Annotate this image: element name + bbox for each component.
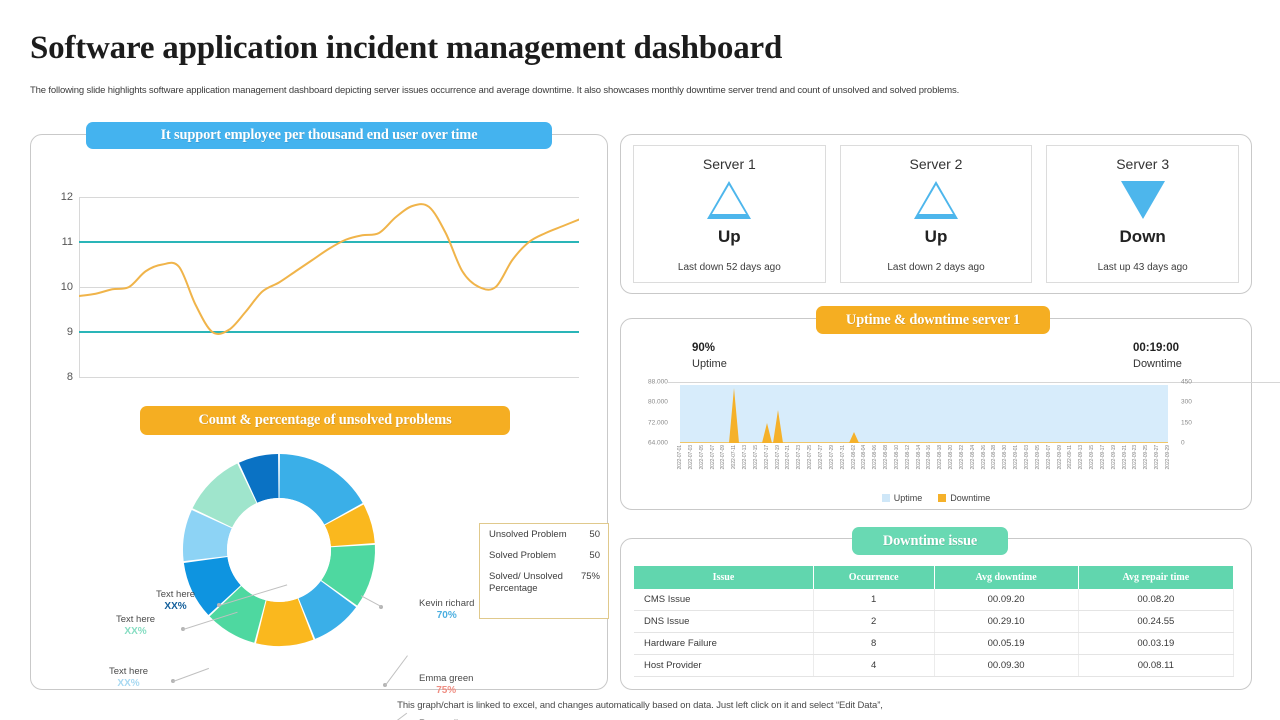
uptime-x-tick: 2022-07-03	[688, 445, 694, 470]
uptime-x-tick: 2022-09-03	[1024, 445, 1030, 470]
uptime-left-tick: 88.000	[648, 379, 668, 386]
uptime-x-tick: 2022-08-06	[872, 445, 878, 470]
server-state: Up	[925, 227, 948, 247]
uptime-x-tick: 2022-09-13	[1078, 445, 1084, 470]
table-column-header: Avg downtime	[934, 566, 1078, 589]
uptime-legend: Uptime Downtime	[621, 493, 1251, 503]
table-cell: 00.05.19	[934, 633, 1078, 655]
donut-slice-percent: XX%	[109, 678, 148, 691]
donut-slice-name: Kevin richard	[419, 598, 474, 609]
downtime-issue-table: IssueOccurrenceAvg downtimeAvg repair ti…	[634, 566, 1234, 677]
line-chart-series	[79, 197, 579, 377]
table-cell: 00.09.30	[934, 655, 1078, 677]
support-chart-banner: It support employee per thousand end use…	[86, 122, 552, 149]
donut-leader-line	[385, 656, 408, 686]
donut-slice-percent: XX%	[116, 626, 155, 639]
donut-slice-label: Kevin richard70%	[419, 598, 474, 622]
table-column-header: Issue	[634, 566, 813, 589]
uptime-chart-banner: Uptime & downtime server 1	[816, 306, 1050, 334]
uptime-x-tick: 2022-09-23	[1132, 445, 1138, 470]
page-title: Software application incident management…	[30, 30, 782, 67]
line-chart-y-tick: 11	[62, 236, 73, 248]
uptime-left-tick: 72.000	[648, 419, 668, 426]
line-chart-y-tick: 12	[61, 191, 73, 203]
uptime-x-tick: 2022-09-29	[1165, 445, 1171, 470]
table-cell: 2	[813, 611, 934, 633]
solved-unsolved-stats-box: Unsolved Problem 50 Solved Problem 50 So…	[479, 523, 609, 619]
uptime-x-tick: 2022-07-23	[796, 445, 802, 470]
uptime-x-tick: 2022-09-19	[1111, 445, 1117, 470]
downtime-table-banner: Downtime issue	[852, 527, 1008, 555]
uptime-x-tick: 2022-07-21	[785, 445, 791, 470]
uptime-x-tick: 2022-07-13	[742, 445, 748, 470]
donut-slice-name: Text here	[109, 666, 148, 677]
donut-slice-percent: 70%	[419, 610, 474, 623]
uptime-x-tick: 2022-08-22	[959, 445, 965, 470]
table-row: DNS Issue200.29.1000.24.55	[634, 611, 1234, 633]
uptime-x-tick: 2022-08-20	[948, 445, 954, 470]
table-cell: 8	[813, 633, 934, 655]
page-subtitle: The following slide highlights software …	[30, 85, 1252, 96]
uptime-x-tick: 2022-07-07	[710, 445, 716, 470]
legend-item-downtime: Downtime	[938, 493, 990, 503]
uptime-plot-area	[680, 385, 1168, 443]
downtime-stat-label: Downtime	[1133, 358, 1182, 370]
donut-leader-line	[173, 668, 209, 682]
dashboard-slide: Software application incident management…	[0, 0, 1280, 720]
donut-slice-label: Text hereXX%	[109, 666, 148, 690]
uptime-x-tick: 2022-07-19	[775, 445, 781, 470]
legend-item-uptime: Uptime	[882, 493, 923, 503]
triangle-down-icon	[1121, 181, 1165, 219]
stat-label: Solved/ Unsolved Percentage	[489, 571, 575, 595]
uptime-swatch-icon	[882, 494, 890, 502]
table-header-row: IssueOccurrenceAvg downtimeAvg repair ti…	[634, 566, 1234, 589]
triangle-up-icon	[914, 181, 958, 219]
downtime-baseline	[680, 442, 1168, 444]
table-cell-issue: DNS Issue	[634, 611, 813, 633]
uptime-x-tick: 2022-09-09	[1057, 445, 1063, 470]
line-chart-y-tick: 9	[67, 326, 73, 338]
uptime-x-tick: 2022-08-30	[1002, 445, 1008, 470]
legend-label: Downtime	[950, 493, 990, 503]
uptime-x-tick: 2022-08-10	[894, 445, 900, 470]
stat-row: Unsolved Problem 50	[480, 524, 608, 545]
uptime-x-tick: 2022-08-26	[981, 445, 987, 470]
downtime-spike	[729, 388, 739, 443]
table-cell-issue: Hardware Failure	[634, 633, 813, 655]
table-row: Host Provider400.09.3000.08.11	[634, 655, 1234, 677]
unsolved-problems-donut	[181, 452, 377, 648]
server-status-panel: Server 1UpLast down 52 days agoServer 2U…	[620, 134, 1252, 294]
table-cell: 4	[813, 655, 934, 677]
table-cell: 1	[813, 589, 934, 611]
triangle-up-icon	[707, 181, 751, 219]
table-column-header: Occurrence	[813, 566, 934, 589]
uptime-stat-label: Uptime	[692, 358, 727, 370]
uptime-x-tick: 2022-07-09	[720, 445, 726, 470]
uptime-x-tick: 2022-09-01	[1013, 445, 1019, 470]
donut-slice-label: Text hereXX%	[116, 614, 155, 638]
donut-slice-percent: 75%	[419, 685, 473, 698]
uptime-x-tick: 2022-08-14	[916, 445, 922, 470]
server-status-card[interactable]: Server 1UpLast down 52 days ago	[633, 145, 826, 283]
stat-row: Solved/ Unsolved Percentage 75%	[480, 566, 608, 600]
downtime-duration-value: 00:19:00	[1133, 342, 1182, 354]
uptime-x-tick: 2022-09-11	[1067, 445, 1073, 469]
downtime-spike	[762, 423, 772, 443]
uptime-x-tick: 2022-07-17	[764, 445, 770, 470]
uptime-x-tick: 2022-09-15	[1089, 445, 1095, 470]
footer-note: This graph/chart is linked to excel, and…	[0, 700, 1280, 711]
stat-label: Solved Problem	[489, 550, 556, 561]
uptime-x-tick: 2022-09-05	[1035, 445, 1041, 470]
uptime-x-tick: 2022-09-25	[1143, 445, 1149, 470]
uptime-x-tick: 2022-08-02	[851, 445, 857, 470]
uptime-right-tick: 0	[1181, 440, 1185, 447]
donut-slice-label: Emma green75%	[419, 673, 473, 697]
downtime-spike	[849, 432, 859, 443]
server-last-change: Last up 43 days ago	[1098, 262, 1188, 273]
downtime-spike	[773, 410, 783, 443]
uptime-x-tick: 2022-07-11	[731, 445, 737, 469]
unsolved-chart-banner: Count & percentage of unsolved problems	[140, 406, 510, 435]
server-state: Up	[718, 227, 741, 247]
stat-label: Unsolved Problem	[489, 529, 567, 540]
uptime-x-tick: 2022-08-18	[937, 445, 943, 470]
uptime-x-tick: 2022-09-07	[1046, 445, 1052, 470]
table-cell-issue: CMS Issue	[634, 589, 813, 611]
uptime-x-tick: 2022-08-24	[970, 445, 976, 470]
uptime-x-tick: 2022-07-15	[753, 445, 759, 470]
donut-slice-label: Text hereXX%	[156, 589, 195, 613]
table-cell: 00.09.20	[934, 589, 1078, 611]
line-chart-y-tick: 8	[67, 371, 73, 383]
server-name: Server 2	[910, 156, 963, 172]
stat-value: 50	[589, 550, 600, 561]
server-last-change: Last down 2 days ago	[887, 262, 984, 273]
support-line-chart: 12111098	[79, 197, 579, 377]
uptime-x-tick: 2022-07-01	[677, 445, 683, 470]
table-cell-issue: Host Provider	[634, 655, 813, 677]
server-state: Down	[1120, 227, 1166, 247]
uptime-stat: 90% Uptime	[692, 342, 727, 370]
table-cell: 00.03.19	[1078, 633, 1233, 655]
line-chart-gridline	[79, 377, 579, 378]
table-row: CMS Issue100.09.2000.08.20	[634, 589, 1234, 611]
table-cell: 00.24.55	[1078, 611, 1233, 633]
uptime-x-tick: 2022-07-27	[818, 445, 824, 470]
uptime-x-tick: 2022-09-21	[1122, 445, 1128, 470]
uptime-x-tick: 2022-08-08	[883, 445, 889, 470]
server-status-card[interactable]: Server 2UpLast down 2 days ago	[840, 145, 1033, 283]
donut-slice-name: Text here	[116, 614, 155, 625]
uptime-right-tick: 150	[1181, 419, 1192, 426]
table-cell: 00.29.10	[934, 611, 1078, 633]
uptime-left-tick: 80.000	[648, 399, 668, 406]
uptime-right-tick: 300	[1181, 399, 1192, 406]
uptime-x-tick: 2022-08-28	[991, 445, 997, 470]
table-column-header: Avg repair time	[1078, 566, 1233, 589]
table-body: CMS Issue100.09.2000.08.20DNS Issue200.2…	[634, 589, 1234, 677]
table-row: Hardware Failure800.05.1900.03.19	[634, 633, 1234, 655]
uptime-x-tick: 2022-07-29	[829, 445, 835, 470]
uptime-percent-value: 90%	[692, 342, 727, 354]
uptime-x-tick: 2022-09-27	[1154, 445, 1160, 470]
server-name: Server 3	[1116, 156, 1169, 172]
table-cell: 00.08.11	[1078, 655, 1233, 677]
uptime-x-tick: 2022-08-12	[905, 445, 911, 470]
server-card-row: Server 1UpLast down 52 days agoServer 2U…	[621, 135, 1251, 293]
server-status-card[interactable]: Server 3DownLast up 43 days ago	[1046, 145, 1239, 283]
server-last-change: Last down 52 days ago	[678, 262, 781, 273]
uptime-x-tick: 2022-07-31	[840, 445, 846, 470]
downtime-stat: 00:19:00 Downtime	[1133, 342, 1182, 370]
server-name: Server 1	[703, 156, 756, 172]
uptime-x-tick: 2022-07-05	[699, 445, 705, 470]
uptime-x-tick: 2022-09-17	[1100, 445, 1106, 470]
uptime-right-tick: 450	[1181, 379, 1192, 386]
donut-slice-percent: XX%	[156, 601, 195, 614]
uptime-left-tick: 64.000	[648, 440, 668, 447]
downtime-swatch-icon	[938, 494, 946, 502]
stat-row: Solved Problem 50	[480, 545, 608, 566]
donut-leader-line	[385, 712, 408, 720]
uptime-x-tick: 2022-08-04	[861, 445, 867, 470]
uptime-x-tick: 2022-08-16	[926, 445, 932, 470]
table-cell: 00.08.20	[1078, 589, 1233, 611]
uptime-x-tick: 2022-07-25	[807, 445, 813, 470]
donut-slice-name: Text here	[156, 589, 195, 600]
line-chart-y-tick: 10	[61, 281, 73, 293]
stat-value: 75%	[581, 571, 600, 582]
stat-value: 50	[589, 529, 600, 540]
donut-slice-name: Emma green	[419, 673, 473, 684]
legend-label: Uptime	[894, 493, 923, 503]
